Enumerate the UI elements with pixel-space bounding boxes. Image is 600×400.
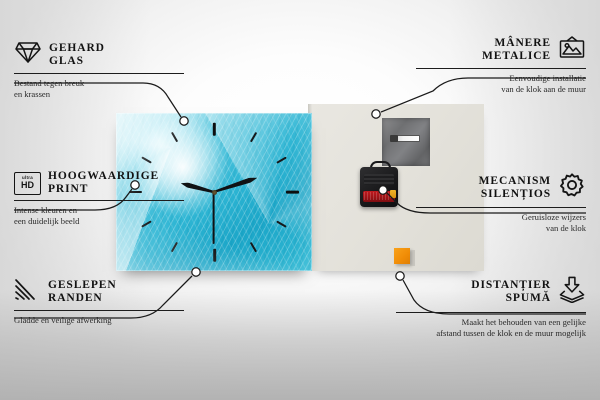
callout-title: MÂNERE METALICE bbox=[482, 37, 551, 63]
hour-hand bbox=[180, 181, 214, 195]
callout-description: Intense kleuren en een duidelijk beeld bbox=[14, 205, 184, 226]
callout-divider bbox=[396, 312, 586, 313]
callout-description: Geruisloze wijzers van de klok bbox=[416, 212, 586, 233]
clock-hands-hub bbox=[212, 190, 217, 195]
callout-title: GEHARD GLAS bbox=[49, 42, 105, 68]
callout-description: Gladde en veilige afwerking bbox=[14, 315, 184, 326]
callout-header: DISTANȚIER SPUMĂ bbox=[396, 276, 586, 308]
infographic-canvas: GEHARD GLAS Bestand tegen breuk en krass… bbox=[0, 0, 600, 400]
battery-label bbox=[364, 192, 390, 200]
callout-mecanism-silentios[interactable]: MECANISM SILENȚIOS Geruisloze wijzers va… bbox=[416, 172, 586, 233]
callout-header: MÂNERE METALICE bbox=[416, 36, 586, 64]
diamond-icon bbox=[14, 40, 42, 69]
callout-divider bbox=[14, 200, 184, 201]
clock-tick bbox=[286, 191, 299, 194]
clock-tick bbox=[171, 241, 178, 252]
callout-description: Eenvoudige installatie van de klok aan d… bbox=[416, 73, 586, 94]
callout-manere-metalice[interactable]: MÂNERE METALICE Eenvoudige installatie v… bbox=[416, 36, 586, 94]
callout-title: DISTANȚIER SPUMĂ bbox=[471, 279, 551, 305]
picture-frame-icon bbox=[558, 36, 586, 64]
callout-hoogwaardige-print[interactable]: ultra HD HOOGWAARDIGE PRINT Intense kleu… bbox=[14, 170, 184, 226]
gear-icon bbox=[558, 172, 586, 203]
bevelled-edges-icon bbox=[14, 278, 41, 306]
second-hand bbox=[213, 192, 215, 244]
clock-tick bbox=[213, 122, 216, 135]
callout-distantier-spuma[interactable]: DISTANȚIER SPUMĂ Maakt het behouden van … bbox=[396, 276, 586, 338]
callout-divider bbox=[14, 73, 184, 74]
movement-ridges bbox=[364, 174, 394, 185]
battery-positive-cap bbox=[390, 190, 396, 198]
callout-description: Bestand tegen breuk en krassen bbox=[14, 78, 184, 99]
callout-gehard-glas[interactable]: GEHARD GLAS Bestand tegen breuk en krass… bbox=[14, 40, 184, 99]
callout-divider bbox=[14, 310, 184, 311]
clock-tick bbox=[249, 132, 256, 143]
foam-spacer bbox=[394, 248, 410, 264]
callout-header: ultra HD HOOGWAARDIGE PRINT bbox=[14, 170, 184, 196]
callout-geslepen-randen[interactable]: GESLEPEN RANDEN Gladde en veilige afwerk… bbox=[14, 278, 184, 326]
clock-tick bbox=[277, 157, 288, 164]
callout-header: GESLEPEN RANDEN bbox=[14, 278, 184, 306]
hanger-slot-dark bbox=[390, 135, 398, 142]
foam-spacer-side bbox=[410, 250, 415, 266]
down-arrow-stack-icon bbox=[558, 276, 586, 308]
ultra-hd-icon-large-label: HD bbox=[21, 181, 34, 190]
clock-tick bbox=[141, 157, 152, 164]
callout-divider bbox=[416, 68, 586, 69]
callout-title: HOOGWAARDIGE PRINT bbox=[48, 170, 159, 196]
clock-tick bbox=[171, 132, 178, 143]
minute-hand bbox=[213, 175, 258, 194]
clock-tick bbox=[249, 241, 256, 252]
callout-title: MECANISM SILENȚIOS bbox=[479, 175, 551, 201]
callout-title: GESLEPEN RANDEN bbox=[48, 279, 117, 305]
clock-tick bbox=[213, 249, 216, 262]
callout-header: MECANISM SILENȚIOS bbox=[416, 172, 586, 203]
callout-description: Maakt het behouden van een gelijke afsta… bbox=[396, 317, 586, 338]
callout-divider bbox=[416, 207, 586, 208]
callout-header: GEHARD GLAS bbox=[14, 40, 184, 69]
ultra-hd-icon: ultra HD bbox=[14, 172, 41, 195]
metal-hanger-plate bbox=[382, 118, 430, 166]
clock-tick bbox=[277, 220, 288, 227]
